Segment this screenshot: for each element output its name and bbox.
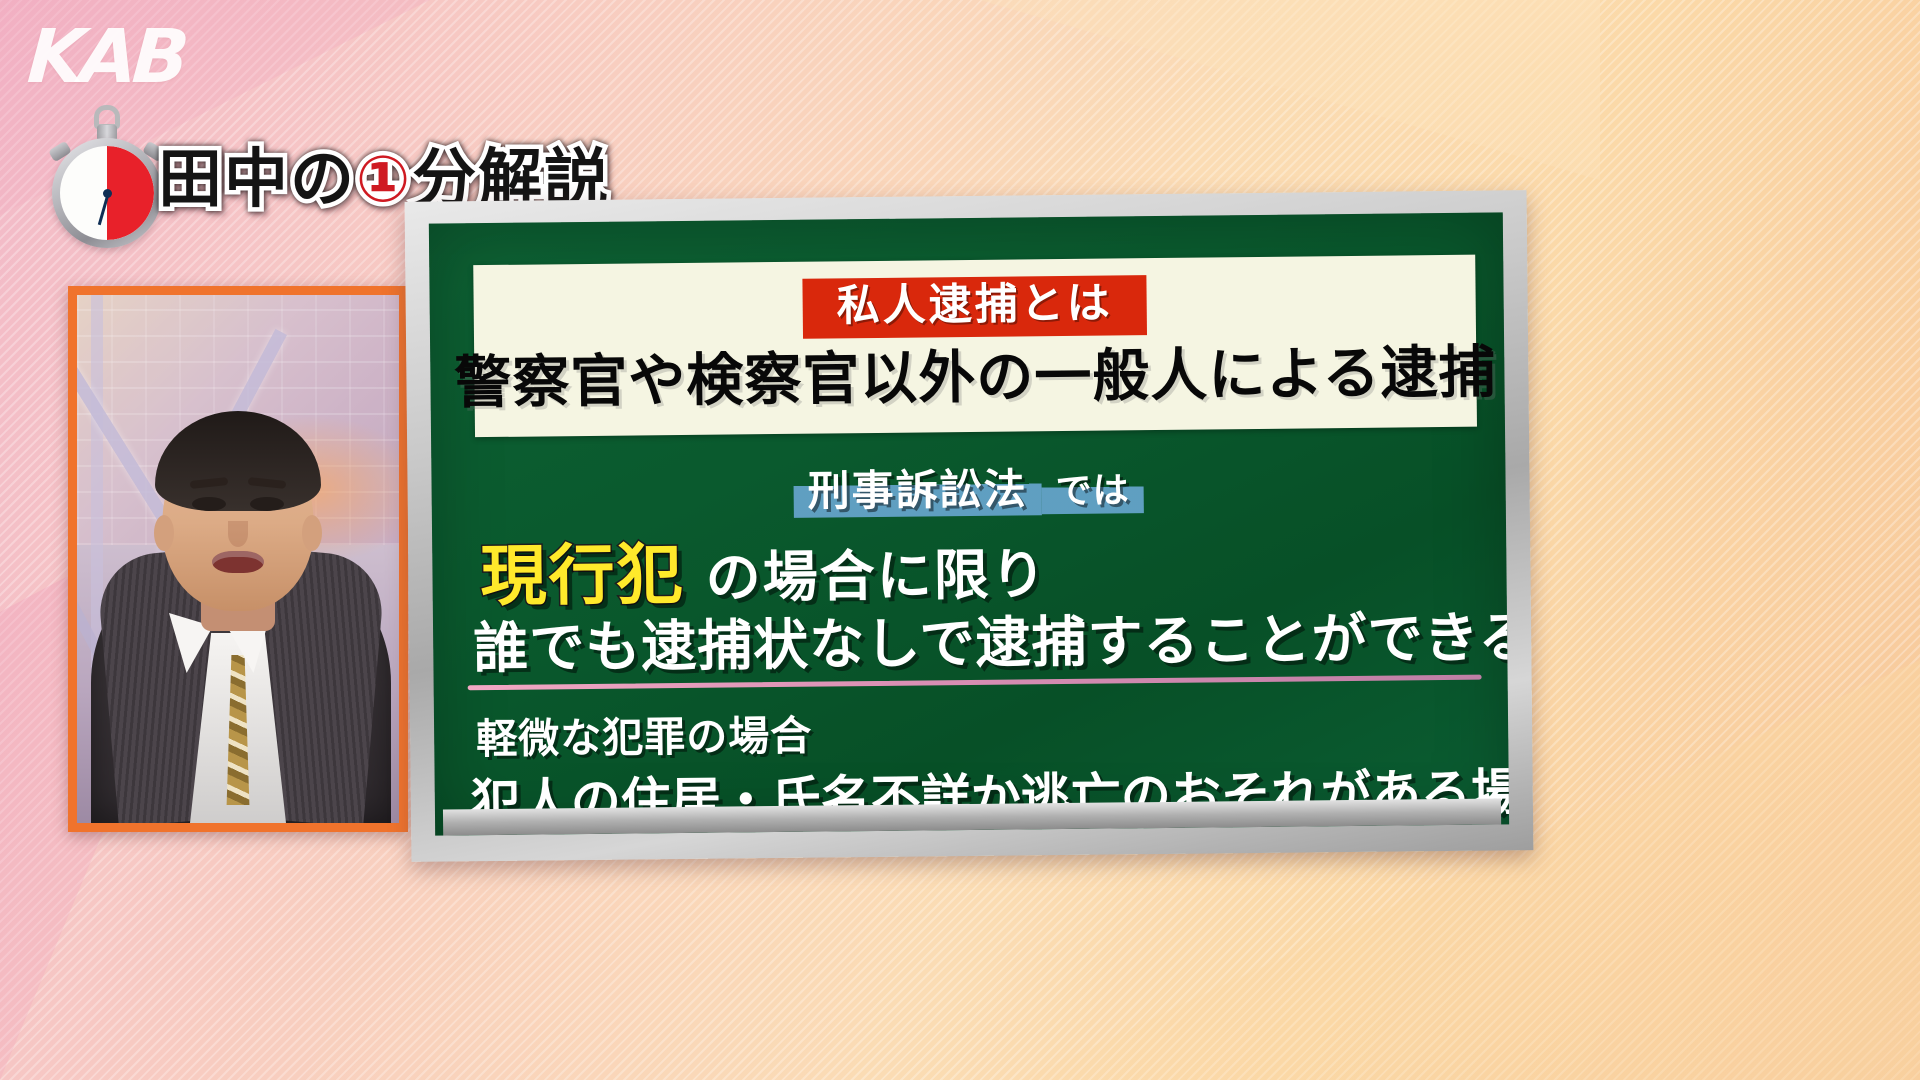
headline-card: 私人逮捕とは 警察官や検察官以外の一般人による逮捕 bbox=[473, 255, 1477, 437]
presenter-mouth bbox=[212, 551, 264, 573]
headline-banner: 私人逮捕とは bbox=[802, 275, 1147, 339]
minor-case-label: 軽微な犯罪の場合 bbox=[476, 702, 813, 766]
headline-definition: 警察官や検察官以外の一般人による逮捕 bbox=[454, 342, 1497, 416]
condition-detail: 誰でも逮捕状なしで逮捕することができる bbox=[473, 592, 1509, 683]
program-title-prefix: 田中の bbox=[158, 143, 356, 217]
stopwatch-bezel-icon bbox=[52, 138, 162, 248]
law-reference-line: 刑事訴訟法では bbox=[431, 450, 1506, 522]
board-surface: 私人逮捕とは 警察官や検察官以外の一般人による逮捕 刑事訴訟法では 現行犯 の場… bbox=[429, 212, 1509, 835]
presenter-nose bbox=[228, 521, 248, 547]
presenter-eye-left bbox=[192, 497, 226, 511]
broadcaster-logo: KAB bbox=[25, 14, 187, 100]
presenter-eye-right bbox=[250, 497, 284, 511]
presenter-ear-right bbox=[302, 515, 322, 551]
stopwatch-face-icon bbox=[60, 146, 154, 240]
explanation-board: 私人逮捕とは 警察官や検察官以外の一般人による逮捕 刑事訴訟法では 現行犯 の場… bbox=[405, 190, 1534, 862]
stopwatch-icon bbox=[40, 105, 175, 235]
law-reference-term: 刑事訴訟法 bbox=[793, 464, 1042, 518]
presenter-video-window bbox=[68, 286, 408, 832]
stopwatch-pivot-icon bbox=[103, 189, 112, 198]
presenter-ear-left bbox=[154, 515, 174, 551]
law-reference-suffix: では bbox=[1041, 470, 1143, 514]
stopwatch-red-sector-icon bbox=[107, 146, 154, 240]
